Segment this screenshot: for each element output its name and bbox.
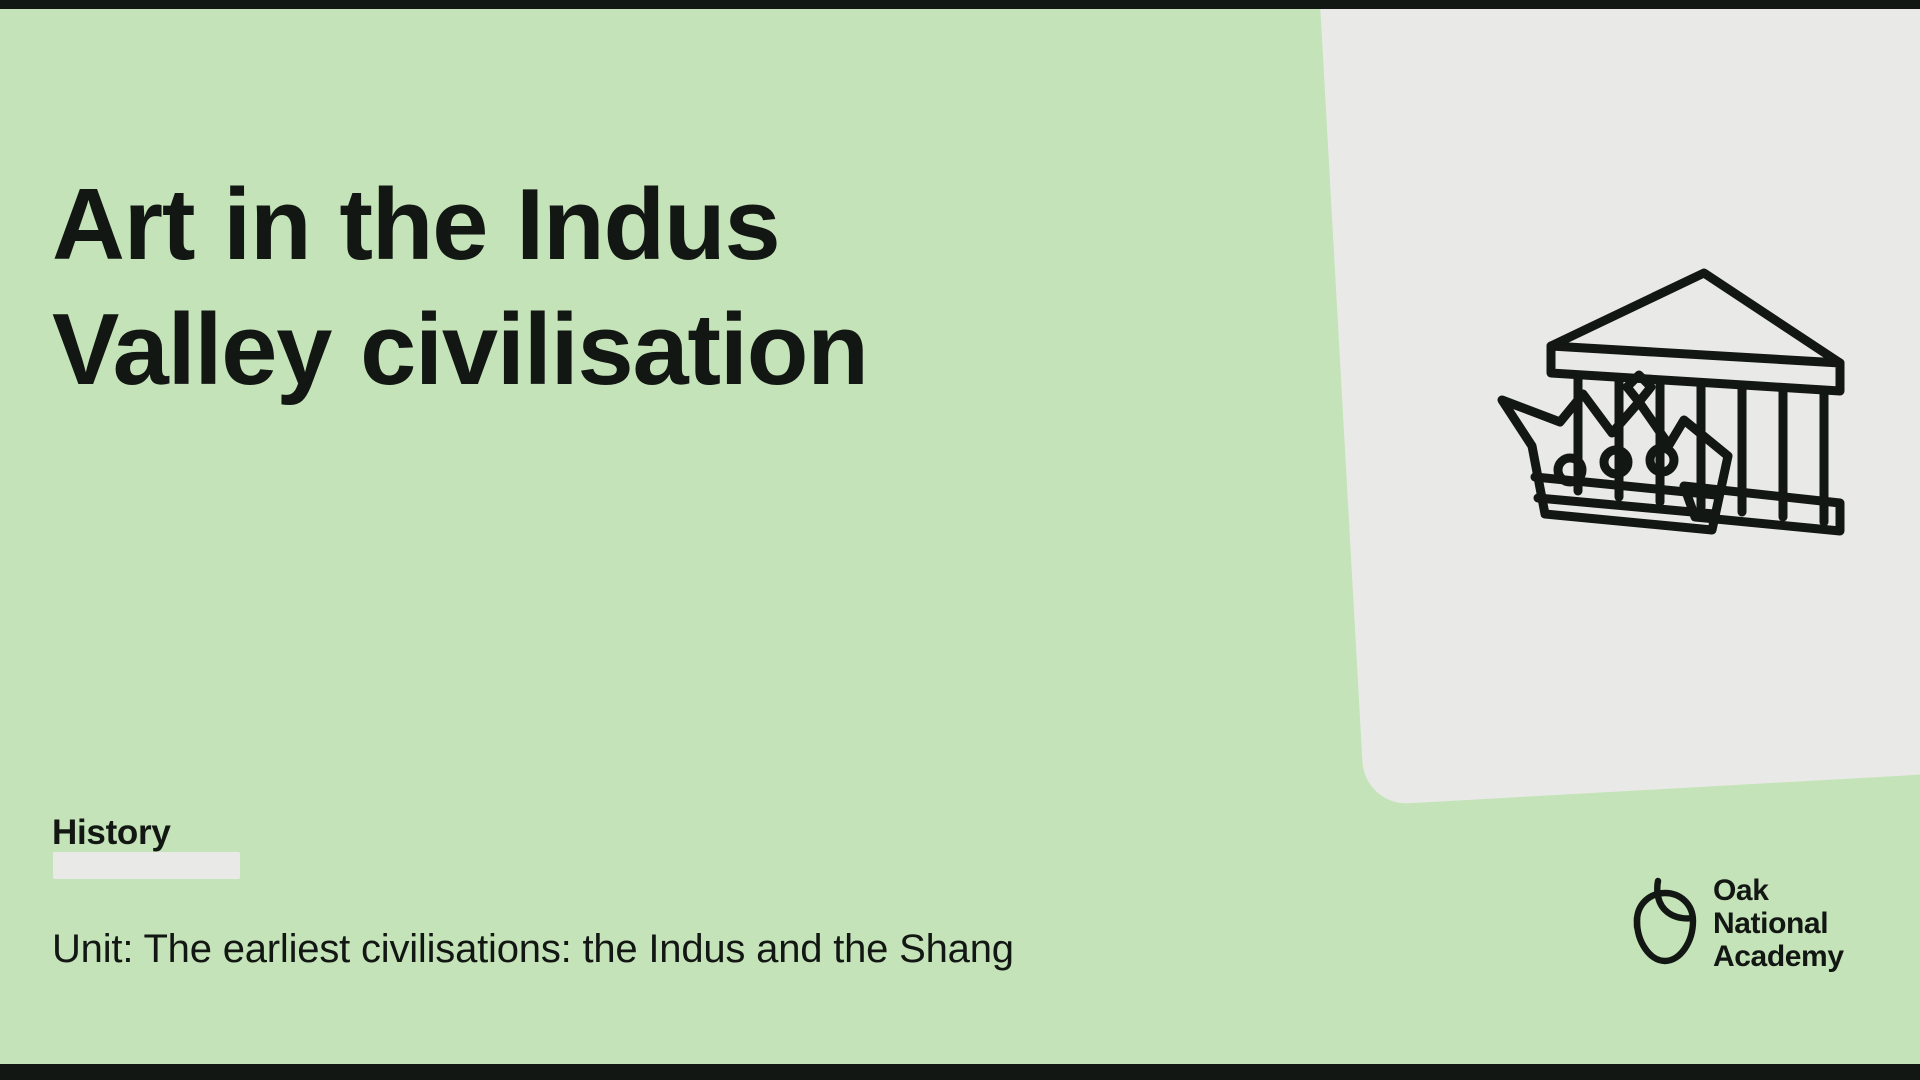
oak-acorn-icon bbox=[1632, 877, 1698, 969]
wordmark-line: Oak bbox=[1713, 874, 1844, 907]
wordmark-line: Academy bbox=[1713, 940, 1844, 973]
subject-block: History bbox=[52, 815, 171, 850]
oak-national-academy-logo: Oak National Academy bbox=[1632, 871, 1880, 975]
title-line: Art in the Indus bbox=[52, 163, 1092, 288]
unit-label: Unit: bbox=[52, 927, 133, 971]
subject-label: History bbox=[52, 815, 171, 850]
letterbox-bar-top bbox=[0, 0, 1920, 9]
page-title: Art in the Indus Valley civilisation bbox=[52, 163, 1092, 413]
letterbox-bar-bottom bbox=[0, 1064, 1920, 1080]
unit-line: Unit: The earliest civilisations: the In… bbox=[52, 929, 1014, 969]
title-line: Valley civilisation bbox=[52, 288, 1092, 413]
classical-temple-and-crown-illustration bbox=[1488, 255, 1868, 545]
wordmark-line: National bbox=[1713, 907, 1844, 940]
slide-canvas: Art in the Indus Valley civilisation His… bbox=[0, 9, 1920, 1064]
subject-highlight-bar bbox=[53, 852, 240, 879]
unit-name: The earliest civilisations: the Indus an… bbox=[143, 927, 1013, 971]
oak-wordmark: Oak National Academy bbox=[1713, 874, 1844, 973]
